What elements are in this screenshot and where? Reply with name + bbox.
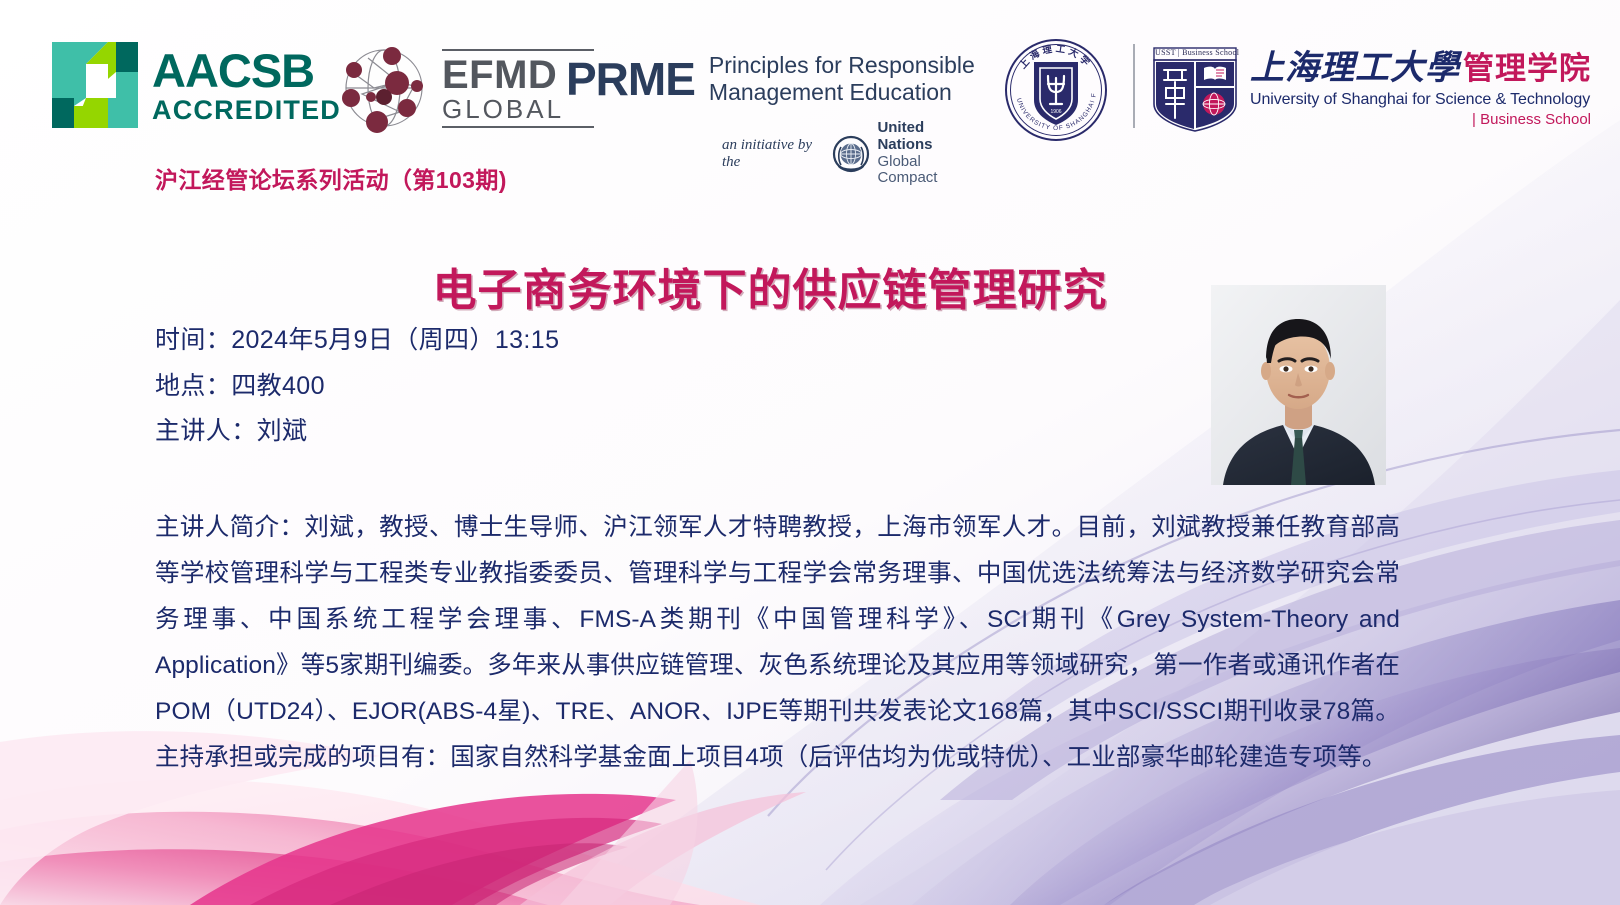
meta-speaker: 主讲人：刘斌: [155, 409, 559, 455]
speaker-portrait-photo: [1211, 285, 1386, 485]
seminar-poster: AACSB ACCREDITED: [0, 0, 1620, 905]
speaker-bio: 主讲人简介：刘斌，教授、博士生导师、沪江领军人才特聘教授，上海市领军人才。目前，…: [155, 505, 1400, 781]
meta-location: 地点：四教400: [155, 364, 559, 410]
meta-time: 时间：2024年5月9日（周四）13:15: [155, 318, 559, 364]
poster-content: 沪江经管论坛系列活动（第103期) 电子商务环境下的供应链管理研究 时间：202…: [0, 0, 1620, 905]
series-label: 沪江经管论坛系列活动（第103期): [155, 161, 507, 195]
event-meta: 时间：2024年5月9日（周四）13:15 地点：四教400 主讲人：刘斌: [155, 318, 559, 455]
